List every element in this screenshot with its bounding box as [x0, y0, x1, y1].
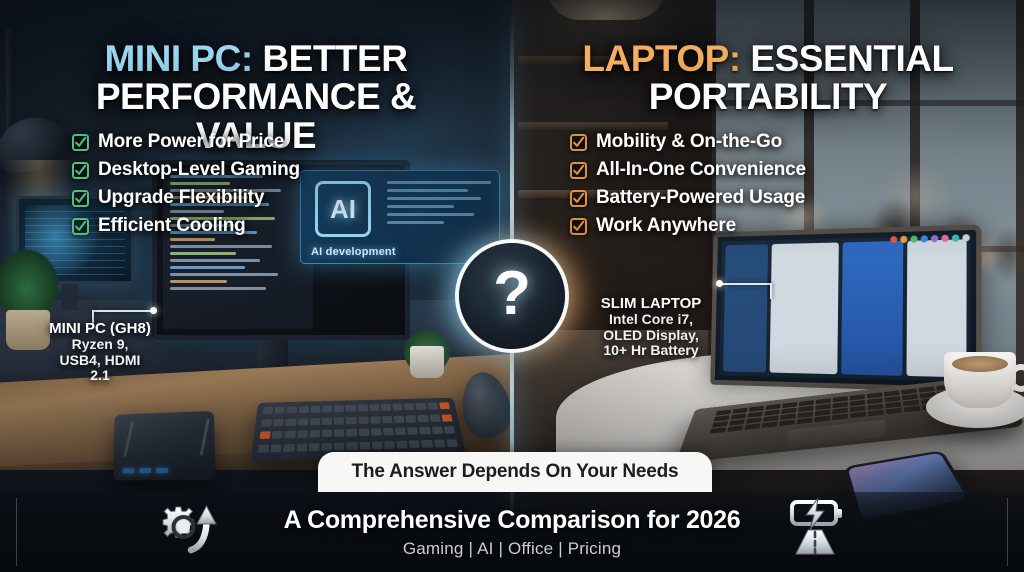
answer-banner: The Answer Depends On Your Needs — [318, 452, 712, 492]
checkbox-checked-icon — [72, 134, 89, 151]
list-item: Mobility & On-the-Go — [570, 131, 806, 153]
checkbox-checked-icon — [570, 162, 587, 179]
right-headline: LAPTOP: ESSENTIAL PORTABILITY — [553, 40, 983, 117]
mini-pc-callout-line1: Ryzen 9, — [22, 337, 178, 353]
ai-panel-textlines — [387, 181, 491, 229]
secondary-monitor-stand — [62, 284, 78, 310]
bottom-bar-title: A Comprehensive Comparison for 2026 — [284, 506, 741, 535]
mini-pc-callout: MINI PC (GH8) Ryzen 9, USB4, HDMI 2.1 — [22, 320, 178, 384]
list-item: Battery-Powered Usage — [570, 187, 806, 209]
left-headline-rest: BETTER — [253, 38, 408, 79]
battery-charging-road-icon — [782, 496, 848, 558]
list-item: More Power for Price — [72, 131, 300, 153]
list-item-label: All-In-One Convenience — [596, 159, 806, 181]
laptop-callout-line3: 10+ Hr Battery — [576, 343, 726, 359]
laptop-callout-title: SLIM LAPTOP — [576, 295, 726, 312]
list-item-label: Efficient Cooling — [98, 215, 246, 237]
checkbox-checked-icon — [570, 190, 587, 207]
coffee-cup — [944, 352, 1016, 408]
bottom-bar-subtitle: Gaming | AI | Office | Pricing — [403, 539, 621, 559]
list-item: Work Anywhere — [570, 215, 806, 237]
left-headline-highlight: MINI PC: — [105, 38, 253, 79]
right-headline-rest: ESSENTIAL — [741, 38, 954, 79]
right-callout-leader-line — [718, 275, 776, 301]
list-item-label: Battery-Powered Usage — [596, 187, 805, 209]
mini-pc-callout-line3: 2.1 — [22, 368, 178, 384]
mini-pc-callout-title: MINI PC (GH8) — [22, 320, 178, 337]
answer-banner-text: The Answer Depends On Your Needs — [352, 461, 679, 483]
list-item: All-In-One Convenience — [570, 159, 806, 181]
list-item-label: Mobility & On-the-Go — [596, 131, 782, 153]
right-benefit-list: Mobility & On-the-Go All-In-One Convenie… — [570, 131, 806, 243]
right-headline-line2: PORTABILITY — [649, 76, 887, 117]
ai-development-label: AI development — [311, 246, 396, 258]
checkbox-checked-icon — [72, 162, 89, 179]
laptop-screen — [710, 224, 981, 392]
list-item: Upgrade Flexibility — [72, 187, 300, 209]
mini-pc-callout-line2: USB4, HDMI — [22, 353, 178, 369]
cafe-shelf-middle — [518, 122, 668, 130]
list-item-label: More Power for Price — [98, 131, 284, 153]
bottom-bar-right-rule — [1007, 498, 1008, 566]
ai-chip-label: AI — [330, 194, 356, 225]
mini-pc-device — [113, 411, 215, 481]
list-item-label: Work Anywhere — [596, 215, 736, 237]
left-small-plant-pot — [410, 346, 444, 378]
laptop-callout: SLIM LAPTOP Intel Core i7, OLED Display,… — [576, 295, 726, 359]
right-headline-highlight: LAPTOP: — [582, 38, 740, 79]
checkbox-checked-icon — [570, 218, 587, 235]
list-item: Desktop-Level Gaming — [72, 159, 300, 181]
checkbox-checked-icon — [72, 190, 89, 207]
list-item: Efficient Cooling — [72, 215, 300, 237]
bottom-bar: A Comprehensive Comparison for 2026 Gami… — [0, 492, 1024, 572]
infographic-canvas: AI AI development — [0, 0, 1024, 572]
checkbox-checked-icon — [72, 218, 89, 235]
mini-pc-usb-ports — [123, 468, 168, 473]
list-item-label: Desktop-Level Gaming — [98, 159, 300, 181]
list-item-label: Upgrade Flexibility — [98, 187, 264, 209]
question-mark-badge: ? — [459, 243, 565, 349]
checkbox-checked-icon — [570, 134, 587, 151]
left-benefit-list: More Power for Price Desktop-Level Gamin… — [72, 131, 300, 243]
laptop-callout-line1: Intel Core i7, — [576, 312, 726, 328]
ai-chip-icon: AI — [315, 181, 371, 237]
gear-upward-arrow-icon — [160, 496, 226, 558]
laptop-screen-ui — [719, 235, 971, 382]
ai-development-panel: AI AI development — [300, 170, 500, 264]
bottom-bar-left-rule — [16, 498, 17, 566]
question-mark-glyph: ? — [493, 263, 531, 325]
laptop-callout-line2: OLED Display, — [576, 328, 726, 344]
